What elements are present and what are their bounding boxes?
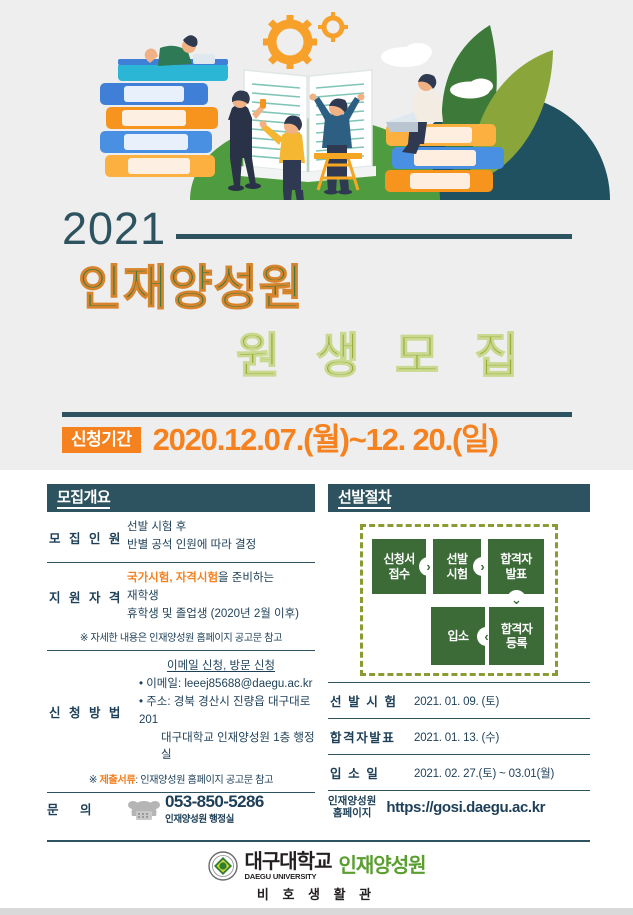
recruit-count-line-1: 선발 시험 후 bbox=[127, 519, 315, 537]
title-bottom-divider bbox=[62, 412, 572, 417]
selection-process-column: 선발절차 신청서 접수 › 선발 시험 › 합격자 발표 ⌄ 입소 ‹ bbox=[328, 484, 590, 791]
date-value-announcement: 2021. 01. 13. (수) bbox=[414, 729, 499, 745]
note-documents-prefix: ※ bbox=[89, 775, 100, 786]
poster-title-primary: 인재양성원 bbox=[78, 262, 304, 316]
flow-box-application-label: 신청서 접수 bbox=[383, 552, 414, 581]
university-name-ko: 대구대학교 bbox=[245, 852, 332, 872]
header-illustration bbox=[0, 0, 633, 200]
row-label-apply-method: 신 청 방 법 bbox=[49, 702, 127, 721]
note-documents-tail: : 인재양성원 홈페이지 공고문 참고 bbox=[135, 775, 273, 786]
eligibility-line-highlight: 국가시험, 자격시험을 준비하는 bbox=[127, 570, 315, 588]
contact-phone-group: 문 의 053-850-5286 인재양성원 행정실 bbox=[47, 793, 315, 825]
homepage-label-line-1: 인재양성원 bbox=[328, 795, 376, 807]
section-header-selection: 선발절차 bbox=[328, 484, 590, 512]
date-label-announcement: 합격자발표 bbox=[330, 727, 414, 746]
eligibility-line-leave: 휴학생 및 졸업생 (2020년 2월 이후) bbox=[127, 606, 315, 624]
date-row-exam: 선 발 시 험 2021. 01. 09. (토) bbox=[328, 682, 590, 718]
row-eligibility: 지 원 자 격 국가시험, 자격시험을 준비하는 재학생 휴학생 및 졸업생 (… bbox=[47, 563, 315, 625]
section-header-overview-label: 모집개요 bbox=[57, 489, 110, 509]
selection-flow-diagram: 신청서 접수 › 선발 시험 › 합격자 발표 ⌄ 입소 ‹ 합격자 등록 bbox=[360, 524, 558, 676]
date-row-announcement: 합격자발표 2021. 01. 13. (수) bbox=[328, 718, 590, 754]
eligibility-line-enrolled: 재학생 bbox=[127, 588, 315, 606]
phone-text-block: 053-850-5286 인재양성원 행정실 bbox=[165, 793, 264, 825]
row-label-recruit-count: 모 집 인 원 bbox=[49, 528, 127, 547]
section-header-selection-label: 선발절차 bbox=[338, 489, 391, 509]
application-period-value: 2020.12.07.(월)~12. 20.(일) bbox=[153, 424, 498, 455]
footer-logo-block: 대구대학교 DAEGU UNIVERSITY 인재양성원 비 호 생 활 관 bbox=[0, 851, 633, 903]
poster-root: 2021 인재양성원 원 생 모 집 신청기간 2020.12.07.(월)~1… bbox=[0, 0, 633, 915]
apply-method-address-1: • 주소: 경북 경산시 진량읍 대구대로 201 bbox=[127, 694, 315, 730]
body-section: 모집개요 모 집 인 원 선발 시험 후 반별 공석 인원에 따라 결정 지 원… bbox=[0, 470, 633, 915]
note-documents-highlight: 제출서류 bbox=[99, 775, 135, 786]
flow-box-entrance-label: 입소 bbox=[448, 629, 469, 643]
year-divider bbox=[176, 234, 572, 239]
row-value-apply-method: 이메일 신청, 방문 신청 • 이메일: leeej85688@daegu.ac… bbox=[127, 658, 315, 765]
row-apply-method: 신 청 방 법 이메일 신청, 방문 신청 • 이메일: leeej85688@… bbox=[47, 651, 315, 767]
flow-box-registration: 합격자 등록 bbox=[489, 607, 544, 665]
flow-box-exam-label: 선발 시험 bbox=[447, 552, 468, 581]
row-recruit-count: 모 집 인 원 선발 시험 후 반별 공석 인원에 따라 결정 bbox=[47, 512, 315, 563]
row-label-eligibility: 지 원 자 격 bbox=[49, 587, 127, 606]
phone-office-label: 인재양성원 행정실 bbox=[165, 811, 264, 825]
flow-box-application: 신청서 접수 bbox=[372, 539, 426, 594]
footer-logo-row: 대구대학교 DAEGU UNIVERSITY 인재양성원 bbox=[208, 851, 426, 881]
homepage-label: 인재양성원 홈페이지 bbox=[328, 795, 376, 819]
hero-section: 2021 인재양성원 원 생 모 집 신청기간 2020.12.07.(월)~1… bbox=[0, 0, 633, 470]
university-name-block: 대구대학교 DAEGU UNIVERSITY bbox=[245, 852, 332, 881]
apply-method-address-2: 대구대학교 인재양성원 1층 행정실 bbox=[127, 730, 315, 766]
date-value-entrance: 2021. 02. 27.(토) ~ 03.01(월) bbox=[414, 765, 554, 781]
flow-box-announcement-label: 합격자 발표 bbox=[500, 552, 531, 581]
university-name-en: DAEGU UNIVERSITY bbox=[245, 872, 317, 881]
date-label-entrance: 입 소 일 bbox=[330, 763, 414, 782]
apply-method-heading: 이메일 신청, 방문 신청 bbox=[167, 660, 275, 672]
contact-homepage-group: 인재양성원 홈페이지 https://gosi.daegu.ac.kr bbox=[328, 795, 596, 819]
footer-divider bbox=[47, 840, 590, 842]
recruitment-overview-column: 모집개요 모 집 인 원 선발 시험 후 반별 공석 인원에 따라 결정 지 원… bbox=[47, 484, 315, 793]
application-period-row: 신청기간 2020.12.07.(월)~12. 20.(일) bbox=[62, 424, 498, 455]
row-value-eligibility: 국가시험, 자격시험을 준비하는 재학생 휴학생 및 졸업생 (2020년 2월… bbox=[127, 570, 315, 623]
recruit-count-line-2: 반별 공석 인원에 따라 결정 bbox=[127, 537, 315, 555]
row-value-recruit-count: 선발 시험 후 반별 공석 인원에 따라 결정 bbox=[127, 519, 315, 555]
daegu-university-emblem-icon bbox=[208, 851, 238, 881]
homepage-url[interactable]: https://gosi.daegu.ac.kr bbox=[386, 799, 545, 816]
homepage-label-line-2: 홈페이지 bbox=[328, 807, 376, 819]
bottom-strip bbox=[0, 908, 633, 915]
contact-label: 문 의 bbox=[47, 799, 123, 818]
section-header-overview: 모집개요 bbox=[47, 484, 315, 512]
date-row-entrance: 입 소 일 2021. 02. 27.(토) ~ 03.01(월) bbox=[328, 754, 590, 791]
flow-box-registration-label: 합격자 등록 bbox=[501, 622, 532, 651]
note-documents: ※ 제출서류: 인재양성원 홈페이지 공고문 참고 bbox=[47, 767, 315, 793]
poster-title-secondary: 원 생 모 집 bbox=[236, 330, 530, 384]
institute-name: 인재양성원 bbox=[339, 856, 426, 876]
year-label: 2021 bbox=[62, 206, 166, 251]
date-value-exam: 2021. 01. 09. (토) bbox=[414, 693, 499, 709]
phone-number[interactable]: 053-850-5286 bbox=[165, 793, 264, 811]
eligibility-exam-tail: 을 준비하는 bbox=[218, 572, 274, 584]
flow-box-announcement: 합격자 발표 bbox=[488, 539, 544, 594]
year-row: 2021 bbox=[62, 202, 572, 254]
apply-method-heading-wrap: 이메일 신청, 방문 신청 bbox=[127, 658, 315, 676]
apply-method-email: • 이메일: leeej85688@daegu.ac.kr bbox=[127, 676, 315, 694]
eligibility-exam-types: 국가시험, 자격시험 bbox=[127, 572, 218, 584]
dormitory-name: 비 호 생 활 관 bbox=[257, 884, 376, 903]
note-eligibility: ※ 자세한 내용은 인재양성원 홈페이지 공고문 참고 bbox=[47, 625, 315, 651]
application-period-badge: 신청기간 bbox=[62, 427, 141, 453]
telephone-icon bbox=[127, 796, 161, 822]
date-label-exam: 선 발 시 험 bbox=[330, 691, 414, 710]
